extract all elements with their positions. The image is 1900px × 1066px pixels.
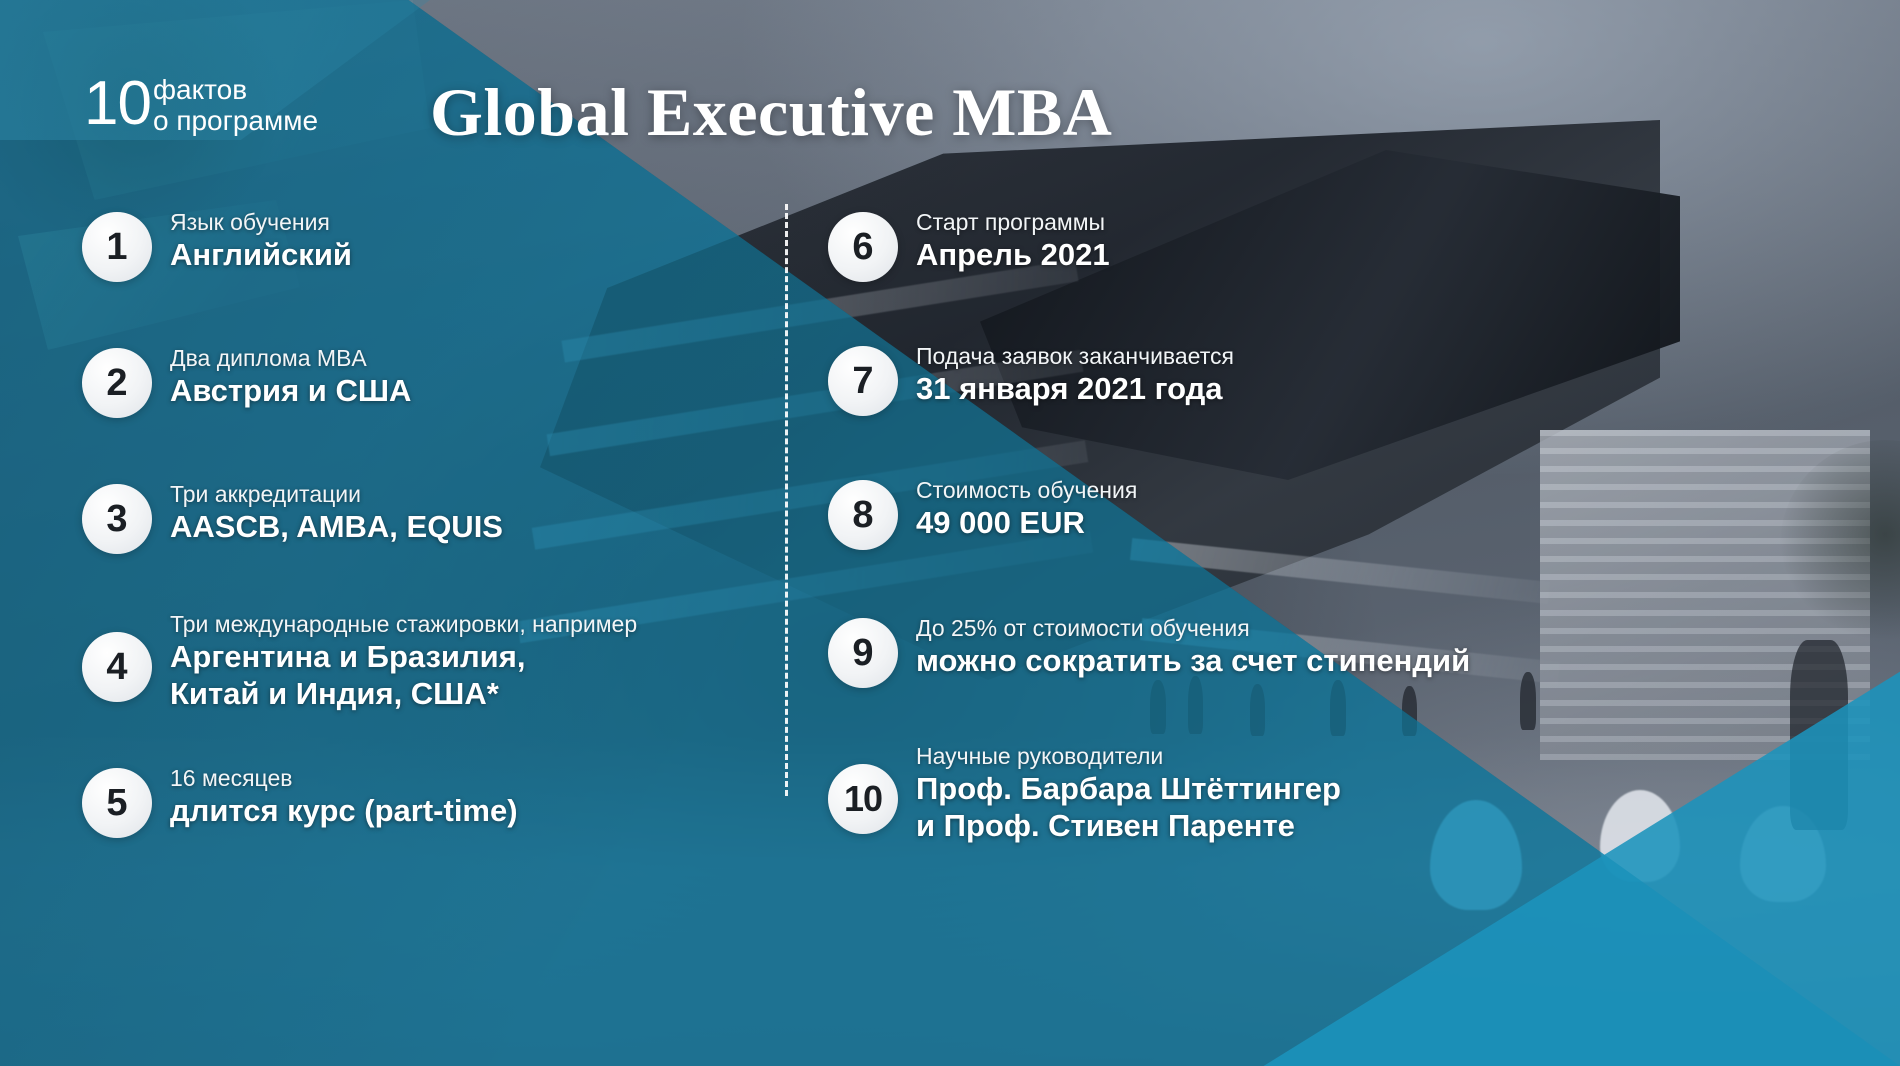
fact-item-7: 7 Подача заявок заканчивается 31 января … bbox=[828, 340, 1838, 416]
fact-number-badge: 5 bbox=[82, 768, 152, 838]
fact-value-line: Апрель 2021 bbox=[916, 236, 1110, 273]
fact-number-badge: 1 bbox=[82, 212, 152, 282]
fact-value-line: AASCB, AMBA, EQUIS bbox=[170, 508, 503, 545]
fact-item-5: 5 16 месяцев длится курс (part-time) bbox=[82, 762, 762, 838]
fact-number-badge: 7 bbox=[828, 346, 898, 416]
fact-label: Два диплома MBA bbox=[170, 344, 411, 372]
fact-value-line: и Проф. Стивен Паренте bbox=[916, 807, 1341, 844]
fact-value-line: Аргентина и Бразилия, bbox=[170, 638, 637, 675]
fact-text: Научные руководители Проф. Барбара Штётт… bbox=[916, 740, 1341, 844]
fact-text: Два диплома MBA Австрия и США bbox=[170, 342, 411, 409]
eyebrow-line-2: о программе bbox=[153, 105, 318, 136]
fact-value: 31 января 2021 года bbox=[916, 370, 1234, 407]
fact-value-line: Китай и Индия, США* bbox=[170, 675, 637, 712]
fact-label: Научные руководители bbox=[916, 742, 1341, 770]
fact-number-badge: 9 bbox=[828, 618, 898, 688]
fact-value-line: длится курс (part-time) bbox=[170, 792, 518, 829]
fact-value: можно сократить за счет стипендий bbox=[916, 642, 1470, 679]
fact-label: Три аккредитации bbox=[170, 480, 503, 508]
fact-item-3: 3 Три аккредитации AASCB, AMBA, EQUIS bbox=[82, 478, 762, 554]
fact-value: Аргентина и Бразилия, Китай и Индия, США… bbox=[170, 638, 637, 712]
eyebrow-line-1: фактов bbox=[153, 74, 318, 105]
page-title: Global Executive MBA bbox=[430, 74, 1112, 150]
fact-value-line: 49 000 EUR bbox=[916, 504, 1137, 541]
fact-label: Язык обучения bbox=[170, 208, 352, 236]
fact-label: Старт программы bbox=[916, 208, 1110, 236]
fact-label: Три международные стажировки, например bbox=[170, 610, 637, 638]
fact-item-2: 2 Два диплома MBA Австрия и США bbox=[82, 342, 762, 418]
infographic-poster: 10 фактов о программе Global Executive M… bbox=[0, 0, 1900, 1066]
fact-number-badge: 8 bbox=[828, 480, 898, 550]
fact-number-badge: 2 bbox=[82, 348, 152, 418]
fact-value: Апрель 2021 bbox=[916, 236, 1110, 273]
fact-value: 49 000 EUR bbox=[916, 504, 1137, 541]
poster-content: 10 фактов о программе Global Executive M… bbox=[0, 0, 1900, 1066]
fact-value: Английский bbox=[170, 236, 352, 273]
fact-value-line: 31 января 2021 года bbox=[916, 370, 1234, 407]
fact-item-9: 9 До 25% от стоимости обучения можно сок… bbox=[828, 612, 1838, 688]
fact-label: Подача заявок заканчивается bbox=[916, 342, 1234, 370]
fact-value-line: Австрия и США bbox=[170, 372, 411, 409]
fact-value-line: можно сократить за счет стипендий bbox=[916, 642, 1470, 679]
fact-label: 16 месяцев bbox=[170, 764, 518, 792]
fact-number-badge: 6 bbox=[828, 212, 898, 282]
fact-item-1: 1 Язык обучения Английский bbox=[82, 206, 762, 282]
fact-text: До 25% от стоимости обучения можно сокра… bbox=[916, 612, 1470, 679]
column-divider bbox=[785, 204, 788, 796]
fact-value-line: Проф. Барбара Штёттингер bbox=[916, 770, 1341, 807]
fact-item-8: 8 Стоимость обучения 49 000 EUR bbox=[828, 474, 1838, 550]
fact-text: Три аккредитации AASCB, AMBA, EQUIS bbox=[170, 478, 503, 545]
fact-number-badge: 3 bbox=[82, 484, 152, 554]
fact-label: Стоимость обучения bbox=[916, 476, 1137, 504]
fact-text: Старт программы Апрель 2021 bbox=[916, 206, 1110, 273]
fact-text: Подача заявок заканчивается 31 января 20… bbox=[916, 340, 1234, 407]
fact-text: Три международные стажировки, например А… bbox=[170, 608, 637, 712]
fact-number-badge: 10 bbox=[828, 764, 898, 834]
fact-item-10: 10 Научные руководители Проф. Барбара Шт… bbox=[828, 740, 1838, 844]
fact-number-badge: 4 bbox=[82, 632, 152, 702]
eyebrow-block: 10 фактов о программе bbox=[84, 72, 318, 136]
fact-text: 16 месяцев длится курс (part-time) bbox=[170, 762, 518, 829]
fact-label: До 25% от стоимости обучения bbox=[916, 614, 1470, 642]
fact-value: Австрия и США bbox=[170, 372, 411, 409]
fact-text: Стоимость обучения 49 000 EUR bbox=[916, 474, 1137, 541]
fact-value: Проф. Барбара Штёттингер и Проф. Стивен … bbox=[916, 770, 1341, 844]
fact-value: AASCB, AMBA, EQUIS bbox=[170, 508, 503, 545]
fact-value: длится курс (part-time) bbox=[170, 792, 518, 829]
fact-value-line: Английский bbox=[170, 236, 352, 273]
fact-text: Язык обучения Английский bbox=[170, 206, 352, 273]
facts-column-left: 1 Язык обучения Английский 2 Два диплома… bbox=[82, 206, 762, 838]
fact-item-4: 4 Три международные стажировки, например… bbox=[82, 608, 762, 712]
eyebrow-number: 10 bbox=[84, 76, 151, 132]
eyebrow-lines: фактов о программе bbox=[153, 72, 318, 136]
fact-item-6: 6 Старт программы Апрель 2021 bbox=[828, 206, 1838, 282]
facts-column-right: 6 Старт программы Апрель 2021 7 Подача з… bbox=[828, 206, 1838, 844]
